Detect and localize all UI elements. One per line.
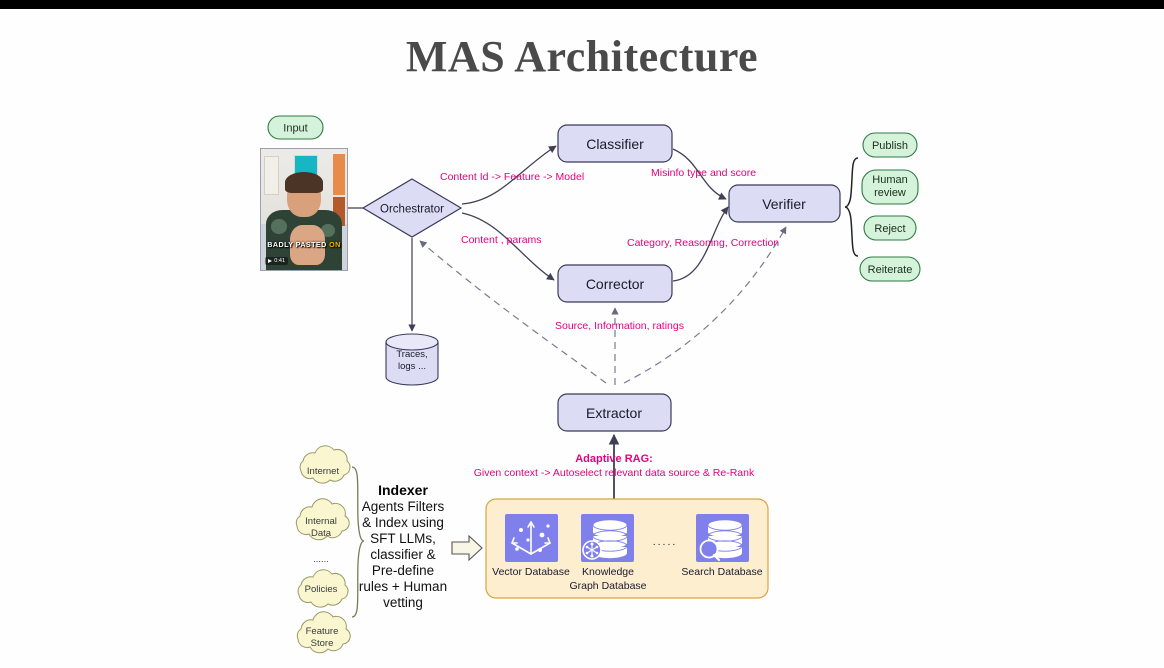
- databases-panel: Vector Database: [486, 499, 768, 598]
- indexer-line-5: Pre-define: [372, 563, 434, 578]
- databases-ellipsis: .....: [653, 536, 678, 548]
- knowledge-graph-db-caption-line1: Knowledge: [582, 566, 634, 578]
- outcome-reiterate-label: Reiterate: [868, 264, 913, 276]
- indexer-line-4: classifier &: [370, 547, 435, 562]
- thumbnail-play-bar[interactable]: 0:41: [265, 257, 288, 265]
- indexer-line-6: rules + Human: [359, 579, 447, 594]
- thumbnail-poster-left: [264, 156, 280, 194]
- indexer-title: Indexer: [378, 482, 428, 498]
- node-traces-logs: Traces, logs ...: [386, 334, 438, 385]
- outcome-human-review: Human review: [862, 170, 918, 204]
- play-icon[interactable]: [268, 259, 272, 263]
- edge-extractor-to-verifier-dashed: [624, 227, 786, 383]
- node-extractor: Extractor: [558, 394, 671, 431]
- node-corrector: Corrector: [558, 265, 672, 302]
- cloud-policies: Policies: [298, 570, 348, 607]
- node-orchestrator-label: Orchestrator: [380, 204, 444, 216]
- input-pill: Input: [268, 116, 323, 139]
- indexer-line-1: Agents Filters: [362, 499, 445, 514]
- thumbnail-duration: 0:41: [274, 258, 285, 264]
- edge-label-extractor-feedback: Source, Information, ratings: [555, 320, 684, 332]
- cloud-internal-data-label-line1: Internal: [305, 516, 337, 527]
- architecture-diagram: Input Orchestrator Content Id -> Feature…: [0, 9, 1164, 668]
- adaptive-rag-detail: Given context -> Autoselect relevant dat…: [474, 467, 755, 479]
- node-orchestrator: Orchestrator: [363, 179, 461, 237]
- thumbnail-person-hair: [285, 172, 323, 193]
- cloud-internal-data-label-line2: Data: [311, 528, 332, 539]
- edge-extractor-to-orchestrator-dashed: [420, 241, 606, 383]
- edge-label-orchestrator-classifier: Content Id -> Feature -> Model: [440, 171, 584, 183]
- adaptive-rag-title: Adaptive RAG:: [575, 453, 653, 465]
- slide-canvas: MAS Architecture Input Orchestrator Cont…: [0, 9, 1164, 668]
- input-pill-label: Input: [283, 123, 307, 135]
- indexer-block: Indexer Agents Filters & Index using SFT…: [359, 482, 447, 610]
- node-corrector-label: Corrector: [586, 276, 645, 292]
- node-verifier: Verifier: [729, 185, 840, 222]
- edge-label-corrector-verifier: Category, Reasoning, Correction: [627, 237, 779, 249]
- edge-orchestrator-to-corrector: [462, 213, 554, 280]
- knowledge-graph-db-caption-line2: Graph Database: [569, 580, 646, 592]
- thumbnail-poster-right-top: [333, 154, 345, 195]
- node-extractor-label: Extractor: [586, 405, 642, 421]
- indexer-line-3: SFT LLMs,: [370, 531, 436, 546]
- thumbnail-caption: BADLY PASTED ON: [264, 241, 343, 248]
- outcome-publish-label: Publish: [872, 140, 908, 152]
- cloud-internal-data: Internal Data: [296, 499, 349, 540]
- outcome-reiterate: Reiterate: [860, 257, 920, 281]
- indexer-line-7: vetting: [383, 595, 423, 610]
- outcome-human-review-label-line2: review: [874, 187, 906, 199]
- cloud-policies-label: Policies: [305, 584, 338, 595]
- search-db-caption: Search Database: [681, 566, 762, 578]
- sources-brace: [352, 467, 364, 617]
- window-top-bar: [0, 0, 1164, 9]
- indexer-line-2: & Index using: [362, 515, 444, 530]
- cloud-feature-store-label-line2: Store: [311, 638, 334, 649]
- thumbnail-caption-highlight: ON: [329, 240, 341, 249]
- search-db-icon: [696, 514, 749, 562]
- outcome-publish: Publish: [863, 133, 917, 157]
- indexer-to-databases-block-arrow: [452, 536, 482, 560]
- outcome-reject: Reject: [864, 216, 916, 240]
- cloud-internet-label: Internet: [307, 466, 340, 477]
- node-classifier: Classifier: [558, 125, 672, 162]
- node-verifier-label: Verifier: [762, 196, 806, 212]
- outcome-human-review-label-line1: Human: [872, 174, 907, 186]
- node-traces-label-line1: Traces,: [396, 349, 427, 360]
- thumbnail-shirt-pattern-1: [271, 219, 286, 234]
- cloud-sources-ellipsis: ......: [313, 554, 329, 565]
- vector-db-icon: [505, 514, 558, 562]
- cloud-feature-store: Feature Store: [297, 612, 350, 653]
- input-video-thumbnail[interactable]: BADLY PASTED ON 0:41: [260, 148, 348, 271]
- cloud-feature-store-label-line1: Feature: [306, 626, 339, 637]
- edge-label-orchestrator-corrector: Content , params: [461, 234, 542, 246]
- outcome-brace: [845, 158, 858, 256]
- edge-label-classifier-verifier: Misinfo type and score: [651, 167, 756, 179]
- vector-db-caption: Vector Database: [492, 566, 570, 578]
- node-traces-label-line2: logs ...: [398, 361, 426, 372]
- node-classifier-label: Classifier: [586, 136, 644, 152]
- knowledge-graph-db-icon: [581, 514, 634, 562]
- thumbnail-caption-main: BADLY PASTED: [267, 240, 326, 249]
- cloud-internet: Internet: [300, 446, 350, 483]
- outcome-reject-label: Reject: [874, 223, 905, 235]
